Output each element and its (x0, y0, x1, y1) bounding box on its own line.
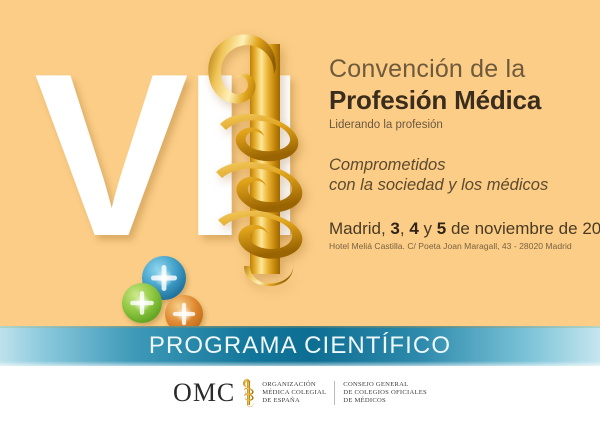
conference-poster: VII (0, 0, 600, 426)
council-line-1: CONSEJO GENERAL (343, 381, 427, 389)
date-suffix: de noviembre de 2022 (446, 219, 600, 238)
omc-acronym: OMC (173, 380, 235, 406)
poster-footer: OMC ORGANIZACIÓN (0, 366, 600, 426)
caduceus-icon (198, 28, 320, 286)
date-day-1: 3 (390, 219, 399, 238)
heading-line-1: Convención de la (329, 54, 591, 84)
date-separator-1: , (400, 219, 409, 238)
date-prefix: Madrid, (329, 219, 390, 238)
date-day-2: 4 (409, 219, 418, 238)
organization-line-2: MÉDICA COLEGIAL (262, 389, 326, 397)
council-name: CONSEJO GENERAL DE COLEGIOS OFICIALES DE… (343, 381, 427, 406)
organization-line-1: ORGANIZACIÓN (262, 381, 326, 389)
motto-line-2: con la sociedad y los médicos (329, 175, 591, 195)
logo-word-marks: ORGANIZACIÓN MÉDICA COLEGIAL DE ESPAÑA C… (262, 381, 427, 406)
date-day-3: 5 (437, 219, 446, 238)
omc-logo: OMC ORGANIZACIÓN (173, 378, 427, 408)
organization-name: ORGANIZACIÓN MÉDICA COLEGIAL DE ESPAÑA (262, 381, 326, 406)
tagline: Liderando la profesión (329, 118, 591, 133)
logo-divider (334, 381, 335, 405)
banner-title: PROGRAMA CIENTÍFICO (0, 326, 600, 366)
council-line-2: DE COLEGIOS OFICIALES (343, 389, 427, 397)
poster-text-block: Convención de la Profesión Médica Lidera… (329, 54, 591, 252)
caduceus-logo-icon (242, 378, 255, 408)
venue-address: Hotel Meliá Castilla. C/ Poeta Joan Mara… (329, 240, 591, 252)
event-date: Madrid, 3, 4 y 5 de noviembre de 2022 (329, 218, 591, 239)
heading-line-2: Profesión Médica (329, 85, 591, 116)
motto: Comprometidos con la sociedad y los médi… (329, 155, 591, 195)
motto-line-1: Comprometidos (329, 155, 591, 175)
organization-line-3: DE ESPAÑA (262, 397, 326, 405)
date-separator-2: y (419, 219, 437, 238)
council-line-3: DE MÉDICOS (343, 397, 427, 405)
sphere-green-icon (122, 283, 162, 323)
edition-emblem: VII (30, 28, 320, 320)
